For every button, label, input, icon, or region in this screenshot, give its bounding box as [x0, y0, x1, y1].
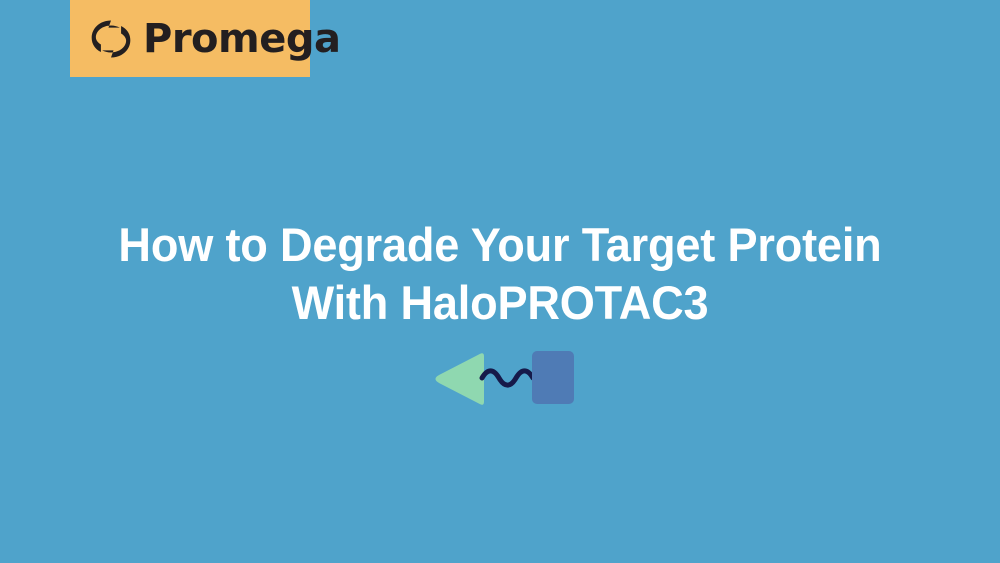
halo-protac-diagram-svg: [425, 340, 587, 416]
page-title: How to Degrade Your Target Protein With …: [0, 216, 1000, 332]
video-title-slide: Promega How to Degrade Your Target Prote…: [0, 0, 1000, 563]
promega-wordmark: Promega: [143, 19, 340, 59]
halo-protac-diagram: [425, 340, 587, 416]
promega-logo-plaque: Promega: [70, 0, 310, 77]
protac-linker-squiggle: [482, 371, 533, 385]
promega-ring-logomark: [90, 18, 132, 60]
title-line-2: With HaloPROTAC3: [20, 274, 980, 332]
halotag-triangle: [436, 353, 485, 405]
target-protein-square: [532, 351, 574, 404]
title-line-1: How to Degrade Your Target Protein: [20, 216, 980, 274]
